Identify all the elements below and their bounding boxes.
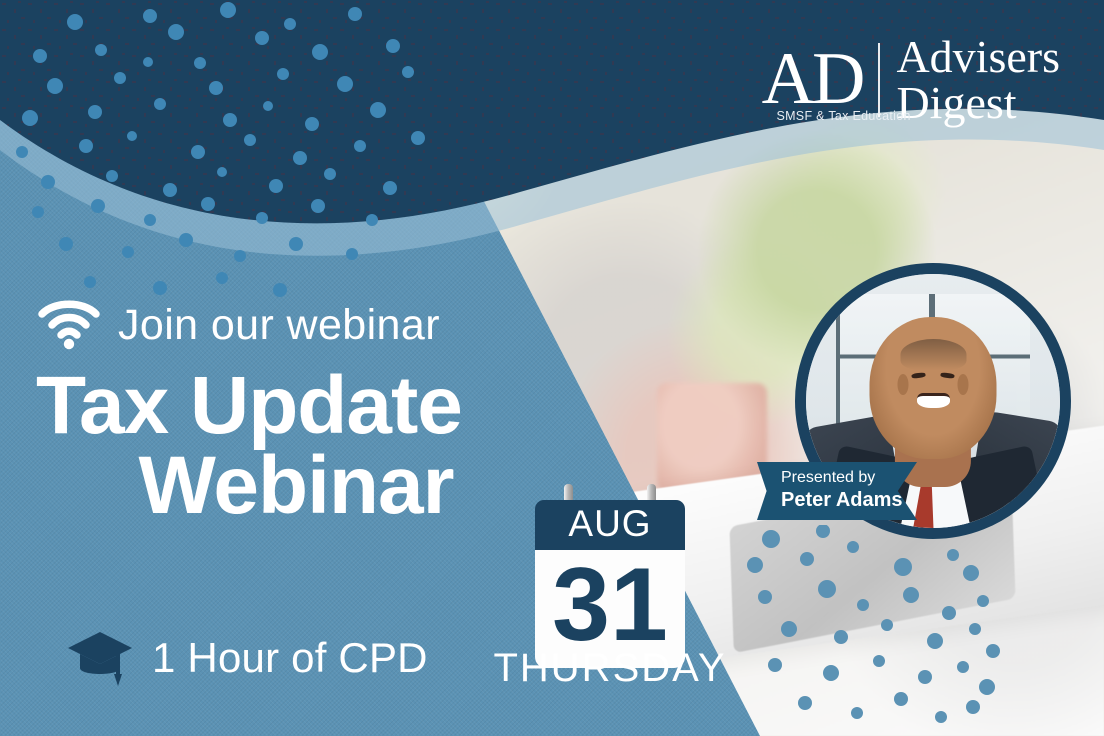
page-title: Tax Update Webinar <box>36 366 556 527</box>
cpd-text: 1 Hour of CPD <box>152 634 428 682</box>
title-line-2: Webinar <box>36 446 556 526</box>
presenter-name: Peter Adams <box>781 488 917 513</box>
graduation-cap-icon <box>66 628 134 688</box>
avatar-eye-left <box>911 372 925 378</box>
logo-monogram: AD <box>762 48 863 112</box>
eyebrow-row: Join our webinar <box>38 300 440 350</box>
avatar-hair <box>900 339 966 370</box>
brand-logo: AD Advisers Digest SMSF & Tax Education <box>762 34 1060 126</box>
logo-name-line1: Advisers <box>896 34 1060 80</box>
avatar-ear-right <box>957 374 968 395</box>
presenter-prefix: Presented by <box>781 468 917 488</box>
wifi-icon <box>38 300 100 350</box>
logo-wordmark: Advisers Digest SMSF & Tax Education <box>896 34 1060 126</box>
logo-divider <box>878 43 880 117</box>
event-date-calendar: AUG 31 THURSDAY <box>535 500 685 668</box>
calendar-weekday: THURSDAY <box>493 646 727 691</box>
logo-name-line2: Digest <box>896 80 1060 126</box>
eyebrow-text: Join our webinar <box>118 301 440 350</box>
calendar-month: AUG <box>535 500 685 550</box>
avatar-ear-left <box>897 374 908 395</box>
avatar-eye-right <box>940 372 954 378</box>
presenter-ribbon: Presented by Peter Adams <box>757 462 917 520</box>
avatar-smile <box>916 393 949 409</box>
title-line-1: Tax Update <box>36 366 556 446</box>
cpd-row: 1 Hour of CPD <box>66 628 428 688</box>
poster-canvas: AD Advisers Digest SMSF & Tax Education … <box>0 0 1104 736</box>
logo-tagline: SMSF & Tax Education <box>776 110 910 123</box>
avatar-face <box>870 317 997 459</box>
